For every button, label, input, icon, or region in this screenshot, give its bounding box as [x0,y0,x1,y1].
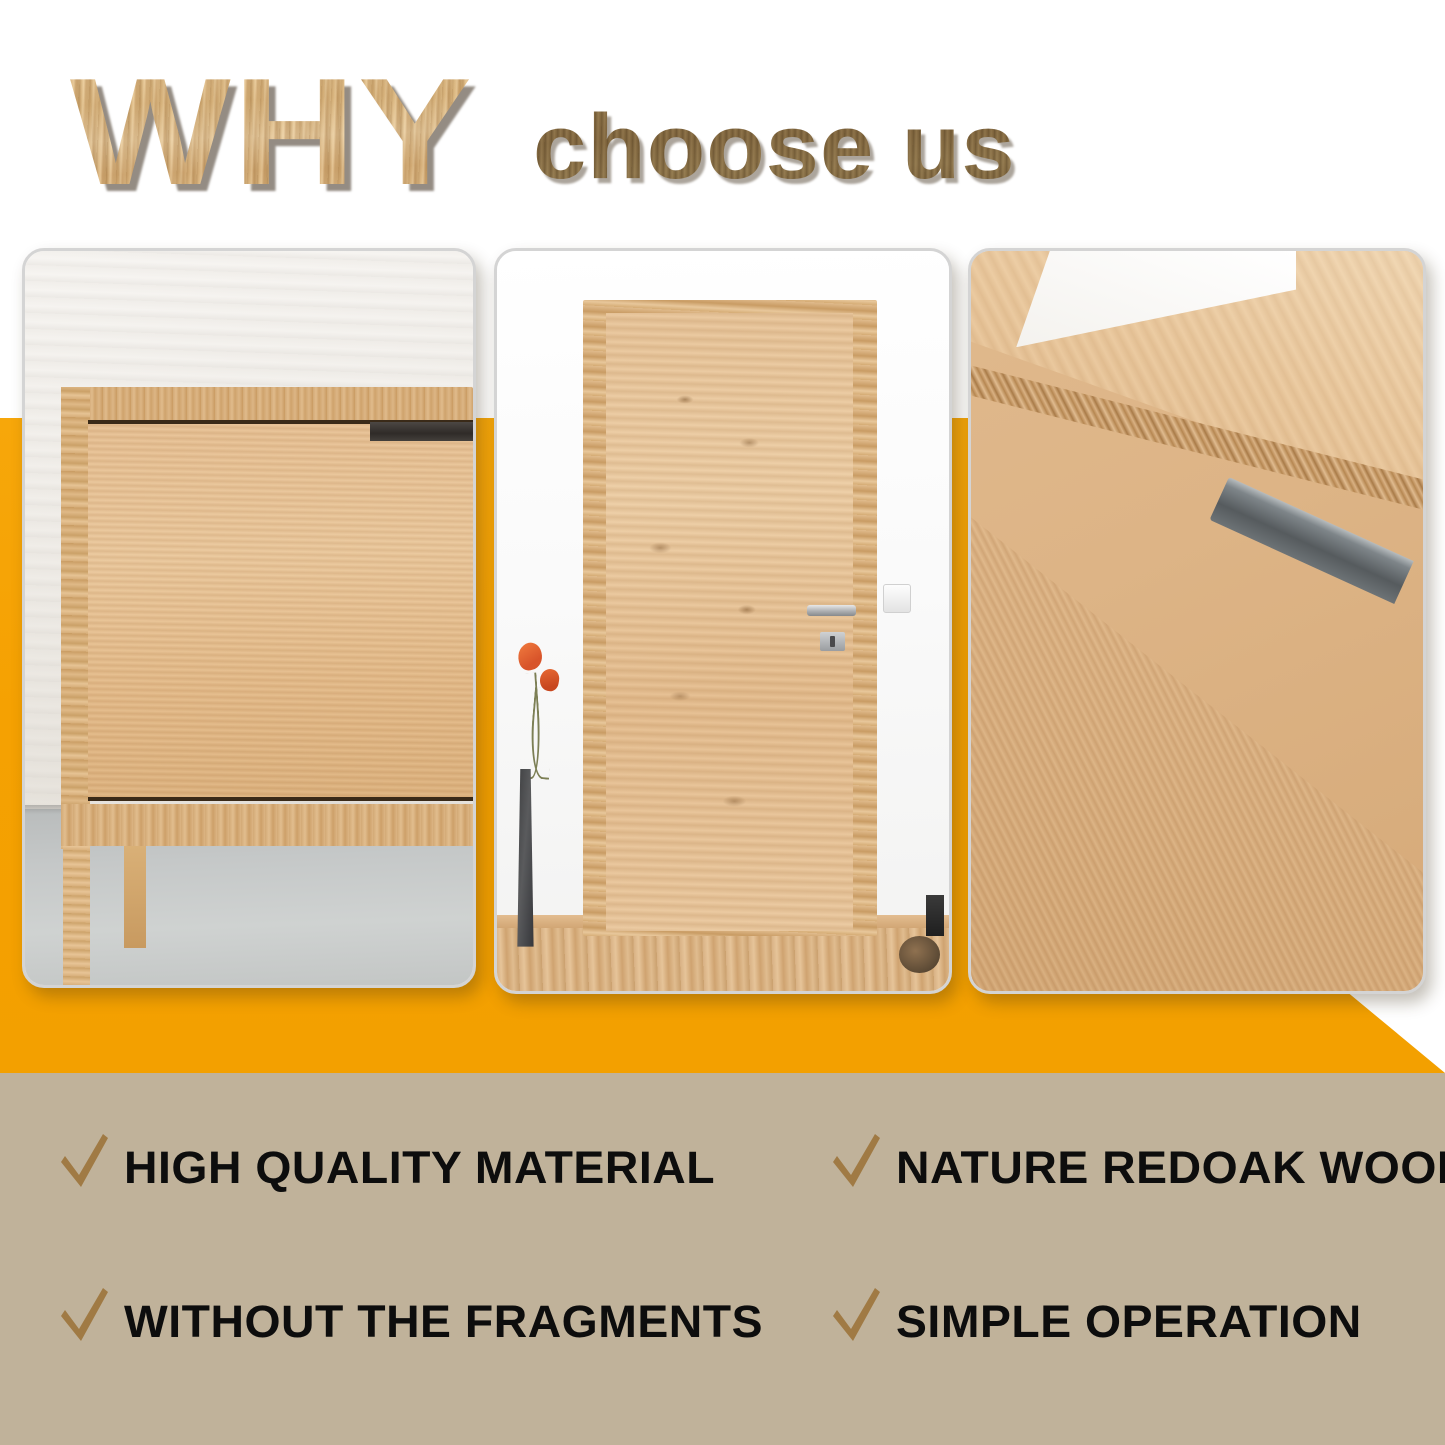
door-leaf-panel [606,313,852,931]
cabinet-left-stile [61,387,90,849]
feature-label: WITHOUT THE FRAGMENTS [124,1299,763,1344]
feature-item: SIMPLE OPERATION [830,1296,1348,1346]
check-icon [58,1286,110,1346]
oak-sideboard-photo [25,251,473,985]
cabinet-door-panel [88,420,473,802]
dark-object-right [926,895,944,936]
cabinet-bottom-rail [61,804,473,845]
wooden-door-photo [497,251,949,991]
feature-item: NATURE REDOAK WOOD [830,1142,1445,1192]
cabinet-leg-rear [124,846,146,949]
feature-list: HIGH QUALITY MATERIAL NATURE REDOAK WOOD… [0,1098,1445,1428]
feature-label: SIMPLE OPERATION [896,1299,1362,1344]
door-lock-escutcheon [820,632,845,651]
feature-item: WITHOUT THE FRAGMENTS [58,1296,744,1346]
door-lever-handle [807,605,857,616]
light-switch [883,584,910,613]
heading-primary: WHY [70,63,481,203]
cabinet-handle-strip [370,422,473,441]
gallery-card-oak-sideboard[interactable] [22,248,476,988]
check-icon [830,1286,882,1346]
cabinet-leg-front [63,846,90,985]
oak-panel-handle-photo [971,251,1423,991]
feature-label: HIGH QUALITY MATERIAL [124,1145,715,1190]
heading-secondary: choose us [533,101,1016,193]
wooden-floor [497,928,949,991]
gallery-card-wooden-door[interactable] [494,248,952,994]
check-icon [830,1132,882,1192]
wood-log-slice [899,936,940,973]
gallery-card-oak-panel-handle[interactable] [968,248,1426,994]
why-choose-us-infographic: WHY choose us [0,0,1445,1445]
feature-item: HIGH QUALITY MATERIAL [58,1142,698,1192]
feature-label: NATURE REDOAK WOOD [896,1145,1445,1190]
page-heading: WHY choose us [0,28,1445,203]
cabinet-top-rail [61,387,473,421]
check-icon [58,1132,110,1192]
